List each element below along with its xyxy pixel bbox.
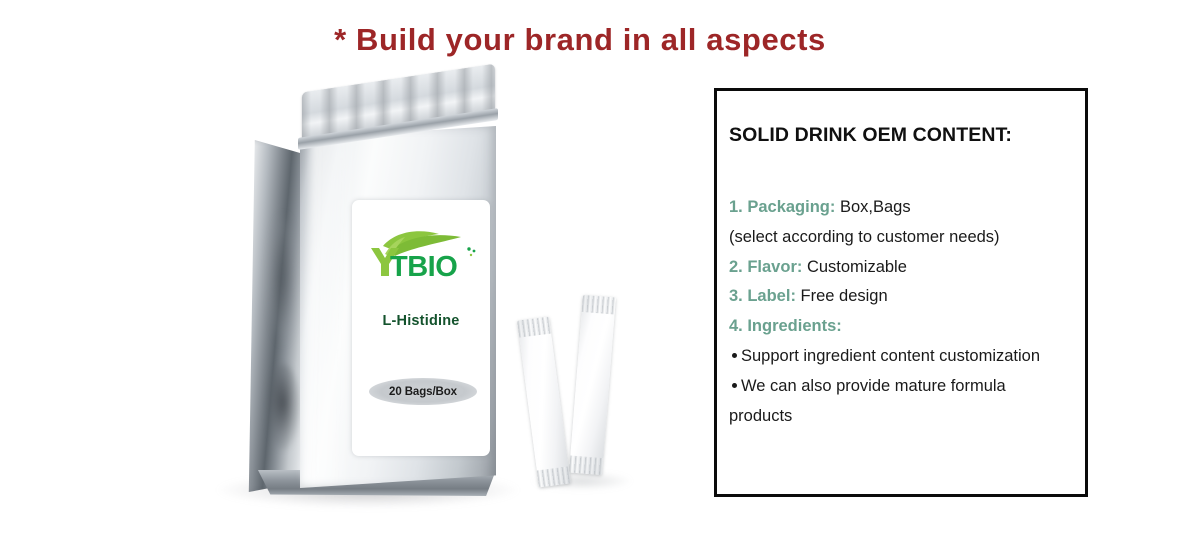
oem-content-line: products bbox=[723, 402, 1089, 432]
oem-content-line-text: (select according to customer needs) bbox=[729, 228, 1000, 246]
bag-quantity-badge: 20 Bags/Box bbox=[369, 378, 477, 405]
oem-content-title: SOLID DRINK OEM CONTENT: bbox=[729, 124, 1012, 147]
oem-content-line-text: We can also provide mature formula bbox=[741, 377, 1006, 395]
svg-text:TBIO: TBIO bbox=[390, 251, 457, 280]
oem-content-line: 2. Flavor: Customizable bbox=[723, 253, 1089, 283]
product-banner: * Build your brand in all aspects bbox=[0, 0, 1200, 544]
bag-side-shade-lower bbox=[266, 364, 300, 450]
oem-content-line-key: 3. Label: bbox=[729, 287, 796, 305]
oem-content-list: 1. Packaging: Box,Bags(select according … bbox=[723, 193, 1089, 431]
oem-content-line-key: 1. Packaging: bbox=[729, 198, 835, 216]
bag-quantity-text: 20 Bags/Box bbox=[389, 386, 457, 398]
oem-content-line-text: Support ingredient content customization bbox=[741, 347, 1040, 365]
bullet-dot-icon bbox=[732, 353, 737, 358]
bag-front-label: TBIO L-Histidine 20 Bags/Box bbox=[352, 200, 490, 456]
sachet-stick-back bbox=[569, 295, 616, 475]
sachet-crimp-top bbox=[517, 317, 551, 338]
sachet-crimp-top bbox=[582, 295, 616, 315]
bag-product-name: L-Histidine bbox=[352, 313, 490, 329]
bag-side-shade-upper bbox=[268, 214, 298, 344]
oem-content-line-value: Box,Bags bbox=[835, 198, 910, 216]
oem-content-line-key: 4. Ingredients: bbox=[729, 317, 842, 335]
oem-content-line: (select according to customer needs) bbox=[723, 223, 1089, 253]
sachet-crimp-bottom bbox=[569, 455, 603, 475]
page-headline: * Build your brand in all aspects bbox=[0, 22, 1160, 58]
product-bag-image: TBIO L-Histidine 20 Bags/Box bbox=[208, 74, 528, 524]
bullet-dot-icon bbox=[732, 383, 737, 388]
oem-content-line: 1. Packaging: Box,Bags bbox=[723, 193, 1089, 223]
oem-content-line: We can also provide mature formula bbox=[723, 372, 1089, 402]
oem-content-line: 4. Ingredients: bbox=[723, 312, 1089, 342]
oem-content-line: 3. Label: Free design bbox=[723, 282, 1089, 312]
oem-content-line-key: 2. Flavor: bbox=[729, 258, 802, 276]
oem-content-line-value: Free design bbox=[796, 287, 888, 305]
bag-gloss-highlight bbox=[304, 132, 351, 482]
oem-content-box: SOLID DRINK OEM CONTENT: 1. Packaging: B… bbox=[714, 88, 1088, 497]
ytbio-logo-icon: TBIO bbox=[365, 224, 481, 280]
oem-content-line: Support ingredient content customization bbox=[723, 342, 1089, 372]
sachet-stick-front bbox=[517, 317, 571, 488]
oem-content-line-value: Customizable bbox=[802, 258, 907, 276]
oem-content-line-text: products bbox=[729, 407, 792, 425]
sachet-sticks-image bbox=[524, 296, 644, 486]
